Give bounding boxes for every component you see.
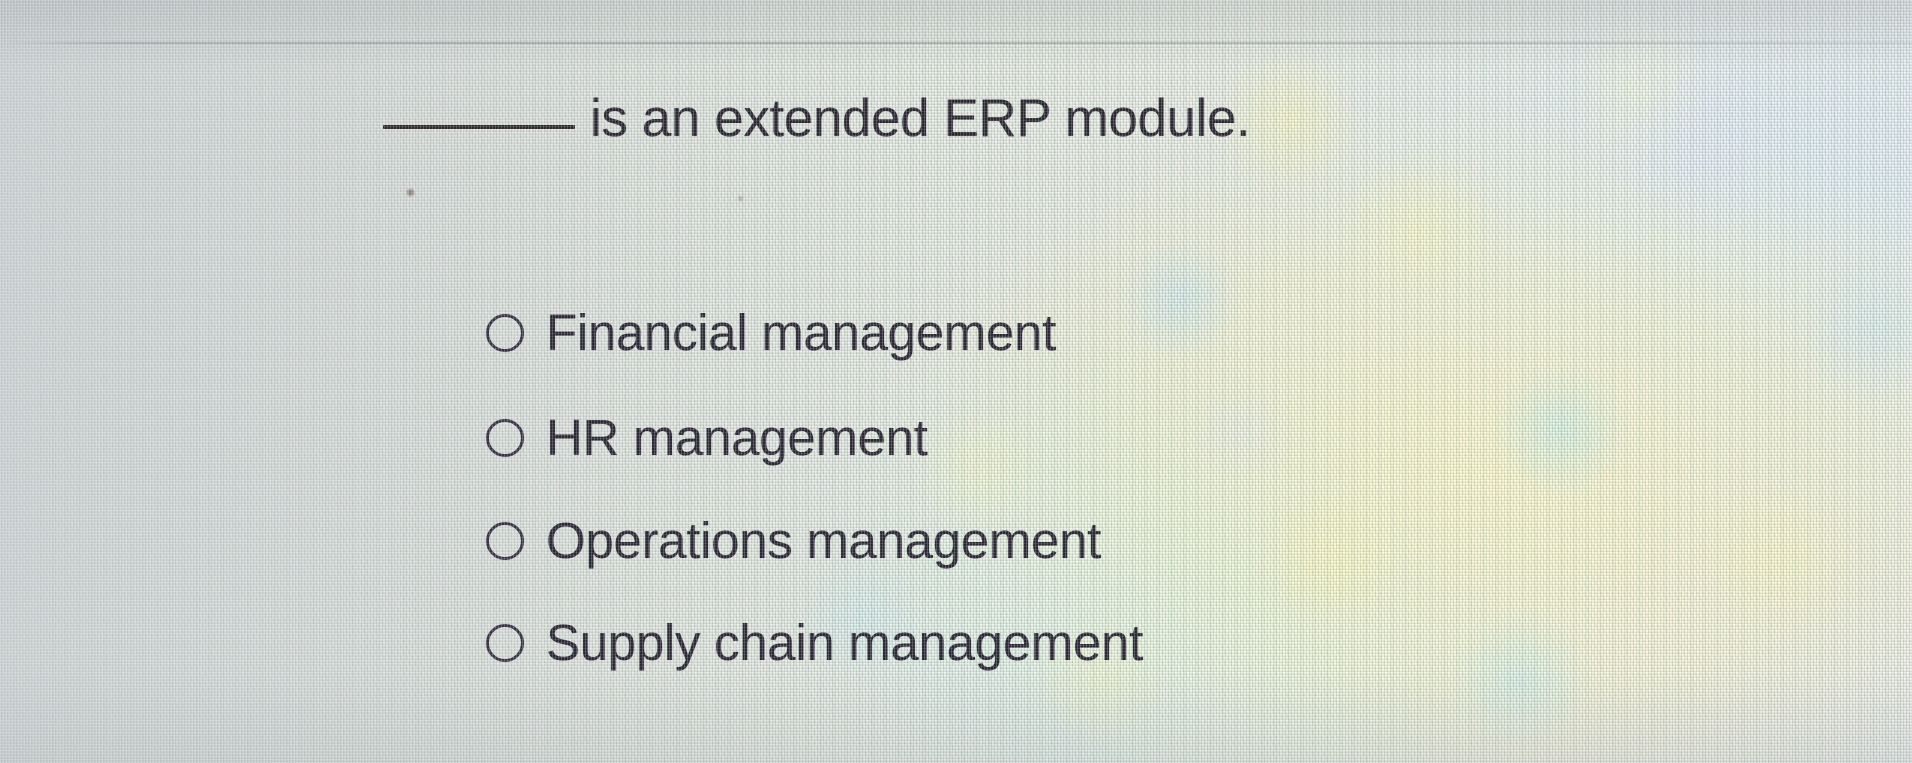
question-text: is an extended ERP module. xyxy=(590,88,1250,149)
radio-button-icon[interactable] xyxy=(486,314,524,352)
option-hr-management[interactable]: HR management xyxy=(486,408,928,467)
option-operations-management[interactable]: Operations management xyxy=(486,511,1101,570)
option-label: HR management xyxy=(546,408,928,467)
option-label: Operations management xyxy=(546,511,1101,570)
radio-button-icon[interactable] xyxy=(486,522,524,560)
option-label: Supply chain management xyxy=(546,613,1143,672)
radio-button-icon[interactable] xyxy=(486,624,524,662)
radio-button-icon[interactable] xyxy=(486,419,524,457)
option-financial-management[interactable]: Financial management xyxy=(486,303,1056,362)
question-blank-underline xyxy=(383,125,575,129)
quiz-screenshot: is an extended ERP module. Financial man… xyxy=(0,0,1912,763)
quiz-content: is an extended ERP module. Financial man… xyxy=(0,0,1912,763)
option-label: Financial management xyxy=(546,303,1056,362)
option-supply-chain-management[interactable]: Supply chain management xyxy=(486,613,1143,672)
